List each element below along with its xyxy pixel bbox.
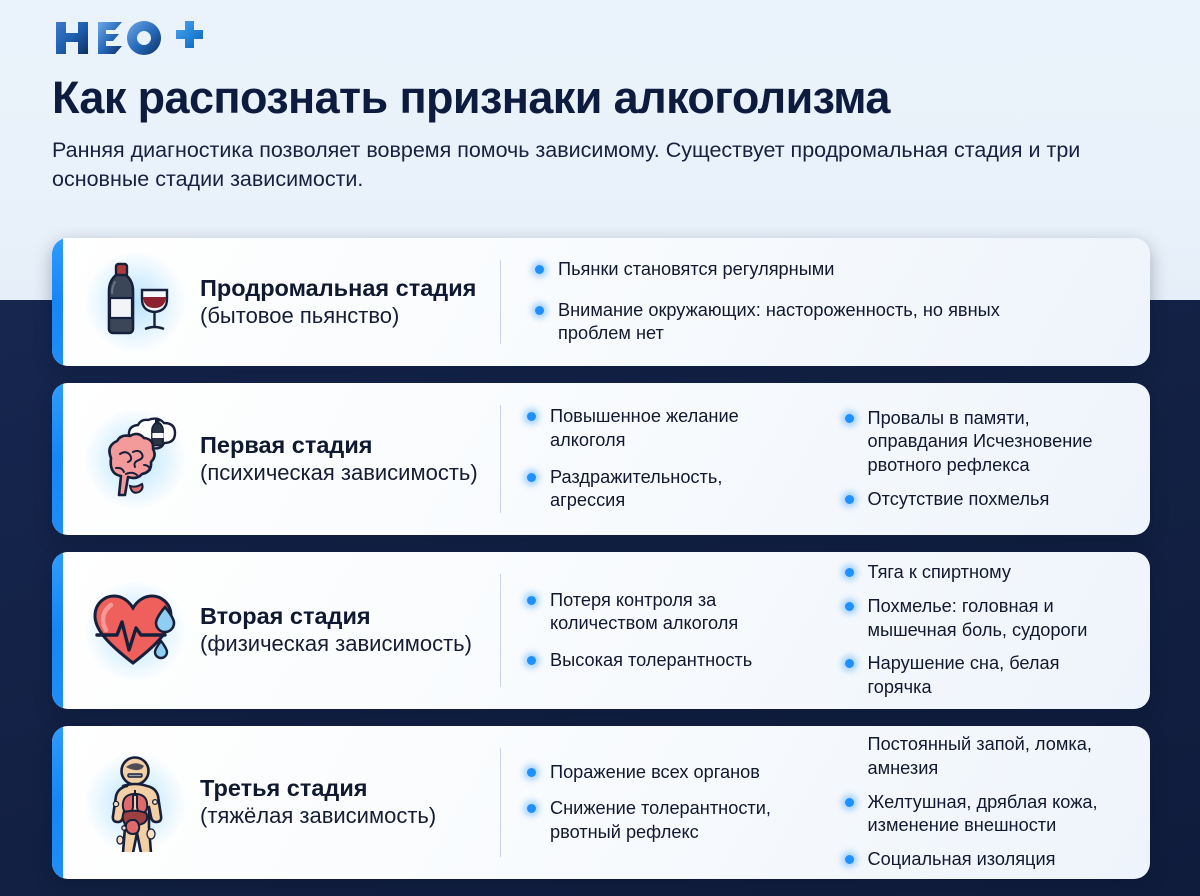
list-item: Потеря контроля за количеством алкоголя <box>527 589 777 636</box>
list-item-text: Высокая толерантность <box>550 650 752 670</box>
stage-name: Продромальная стадия <box>200 275 482 303</box>
list-item: Поражение всех органов <box>527 761 799 785</box>
neo-plus-logo-icon <box>52 18 204 58</box>
list-item: Тяга к спиртному <box>845 561 1125 585</box>
list-item: Внимание окружающих: настороженность, но… <box>535 299 1005 346</box>
stage-title-cell: Вторая стадия (физическая зависимость) <box>200 552 500 709</box>
list-item-text: Раздражительность, агрессия <box>550 467 722 511</box>
list-item-text: Поражение всех органов <box>550 762 760 782</box>
bullet-dot-icon <box>527 804 536 813</box>
brand-logo[interactable] <box>52 16 1148 60</box>
list-item: Высокая толерантность <box>527 649 777 673</box>
brain-with-bottle-thought-icon <box>86 410 184 508</box>
bullet-dot-icon <box>527 412 536 421</box>
stage-icon-cell <box>52 238 200 366</box>
symptom-column: Постоянный запой, ломка, амнезия Желтушн… <box>819 733 1137 871</box>
stage-name: Третья стадия <box>200 775 482 803</box>
bullet-dot-icon <box>527 768 536 777</box>
list-item: Повышенное желание алкоголя <box>527 405 777 452</box>
list-item-text: Снижение толерантности, рвотный рефлекс <box>550 798 771 842</box>
stage-title-cell: Первая стадия (психическая зависимость) <box>200 383 500 535</box>
stage-title-cell: Продромальная стадия (бытовое пьянство) <box>200 238 500 366</box>
list-item-text: Пьянки становятся регулярными <box>558 259 834 279</box>
stage-subtitle: (психическая зависимость) <box>200 460 482 486</box>
list-item-text: Отсутствие похмелья <box>868 489 1050 509</box>
list-item-text: Постоянный запой, ломка, амнезия <box>868 734 1092 778</box>
list-item-text: Похмелье: головная и мышечная боль, судо… <box>868 596 1088 640</box>
bullet-dot-icon <box>527 596 536 605</box>
bullet-dot-icon <box>527 473 536 482</box>
stages-list: Продромальная стадия (бытовое пьянство) … <box>52 238 1150 879</box>
wine-bottle-and-glass-icon <box>89 256 181 348</box>
list-item: Раздражительность, агрессия <box>527 466 777 513</box>
bullet-dot-icon <box>845 798 854 807</box>
list-item-text: Внимание окружающих: настороженность, но… <box>558 300 1000 344</box>
list-item-text: Потеря контроля за количеством алкоголя <box>550 590 738 634</box>
list-item: Социальная изоляция <box>845 848 1125 872</box>
list-item: Провалы в памяти, оправдания Исчезновени… <box>845 407 1125 478</box>
stage-icon-cell <box>52 726 200 879</box>
symptom-list: Провалы в памяти, оправдания Исчезновени… <box>845 407 1125 512</box>
list-item-text: Желтушная, дряблая кожа, изменение внешн… <box>868 792 1098 836</box>
page-subtitle: Ранняя диагностика позволяет вовремя пом… <box>52 136 1082 194</box>
symptom-column: Пьянки становятся регулярными Внимание о… <box>501 258 1136 346</box>
symptom-column: Поражение всех органов Снижение толерант… <box>501 761 819 845</box>
bullet-dot-icon <box>845 602 854 611</box>
stage-symptom-columns: Повышенное желание алкоголя Раздражитель… <box>501 383 1150 535</box>
list-item: Отсутствие похмелья <box>845 488 1125 512</box>
list-item: Желтушная, дряблая кожа, изменение внешн… <box>845 791 1125 838</box>
stage-card-second[interactable]: Вторая стадия (физическая зависимость) П… <box>52 552 1150 709</box>
bullet-dot-icon <box>535 306 544 315</box>
list-item: Нарушение сна, белая горячка <box>845 652 1125 699</box>
stage-title-cell: Третья стадия (тяжёлая зависимость) <box>200 726 500 879</box>
stage-icon-cell <box>52 383 200 535</box>
stage-card-prodromal[interactable]: Продромальная стадия (бытовое пьянство) … <box>52 238 1150 366</box>
symptom-column: Потеря контроля за количеством алкоголя … <box>501 589 819 673</box>
symptom-list: Потеря контроля за количеством алкоголя … <box>527 589 777 673</box>
list-item: Постоянный запой, ломка, амнезия <box>845 733 1125 780</box>
stage-symptom-columns: Поражение всех органов Снижение толерант… <box>501 726 1150 879</box>
stage-subtitle: (бытовое пьянство) <box>200 303 482 329</box>
list-item-text: Социальная изоляция <box>868 849 1056 869</box>
symptom-list: Повышенное желание алкоголя Раздражитель… <box>527 405 777 513</box>
symptom-column: Повышенное желание алкоголя Раздражитель… <box>501 405 819 513</box>
stage-symptom-columns: Пьянки становятся регулярными Внимание о… <box>501 238 1150 366</box>
list-item-text: Провалы в памяти, оправдания Исчезновени… <box>868 408 1093 475</box>
bullet-dot-icon <box>845 659 854 668</box>
stage-name: Вторая стадия <box>200 603 482 631</box>
stage-card-first[interactable]: Первая стадия (психическая зависимость) … <box>52 383 1150 535</box>
symptom-list: Тяга к спиртному Похмелье: головная и мы… <box>845 561 1125 699</box>
stage-subtitle: (тяжёлая зависимость) <box>200 803 482 829</box>
page-header: Как распознать признаки алкоголизма Ранн… <box>0 0 1200 194</box>
page-title: Как распознать признаки алкоголизма <box>52 74 1148 123</box>
human-body-organs-icon <box>86 754 184 852</box>
list-item: Похмелье: головная и мышечная боль, судо… <box>845 595 1125 642</box>
symptom-list: Поражение всех органов Снижение толерант… <box>527 761 799 845</box>
bullet-dot-icon <box>527 656 536 665</box>
stage-symptom-columns: Потеря контроля за количеством алкоголя … <box>501 552 1150 709</box>
list-item: Пьянки становятся регулярными <box>535 258 1005 282</box>
heart-with-pulse-and-drops-icon <box>87 583 183 679</box>
symptom-list: Пьянки становятся регулярными Внимание о… <box>535 258 1005 346</box>
symptom-list: Постоянный запой, ломка, амнезия Желтушн… <box>845 733 1125 871</box>
symptom-column: Провалы в памяти, оправдания Исчезновени… <box>819 407 1137 512</box>
bullet-dot-icon <box>535 265 544 274</box>
list-item-text: Нарушение сна, белая горячка <box>868 653 1060 697</box>
list-item-text: Тяга к спиртному <box>868 562 1011 582</box>
stage-subtitle: (физическая зависимость) <box>200 631 482 657</box>
bullet-dot-icon <box>845 855 854 864</box>
stage-icon-cell <box>52 552 200 709</box>
list-item-text: Повышенное желание алкоголя <box>550 406 739 450</box>
stage-name: Первая стадия <box>200 432 482 460</box>
symptom-column: Тяга к спиртному Похмелье: головная и мы… <box>819 561 1137 699</box>
list-item: Снижение толерантности, рвотный рефлекс <box>527 797 799 844</box>
bullet-dot-icon <box>845 495 854 504</box>
stage-card-third[interactable]: Третья стадия (тяжёлая зависимость) Пора… <box>52 726 1150 879</box>
bullet-dot-icon <box>845 414 854 423</box>
bullet-dot-icon <box>845 568 854 577</box>
